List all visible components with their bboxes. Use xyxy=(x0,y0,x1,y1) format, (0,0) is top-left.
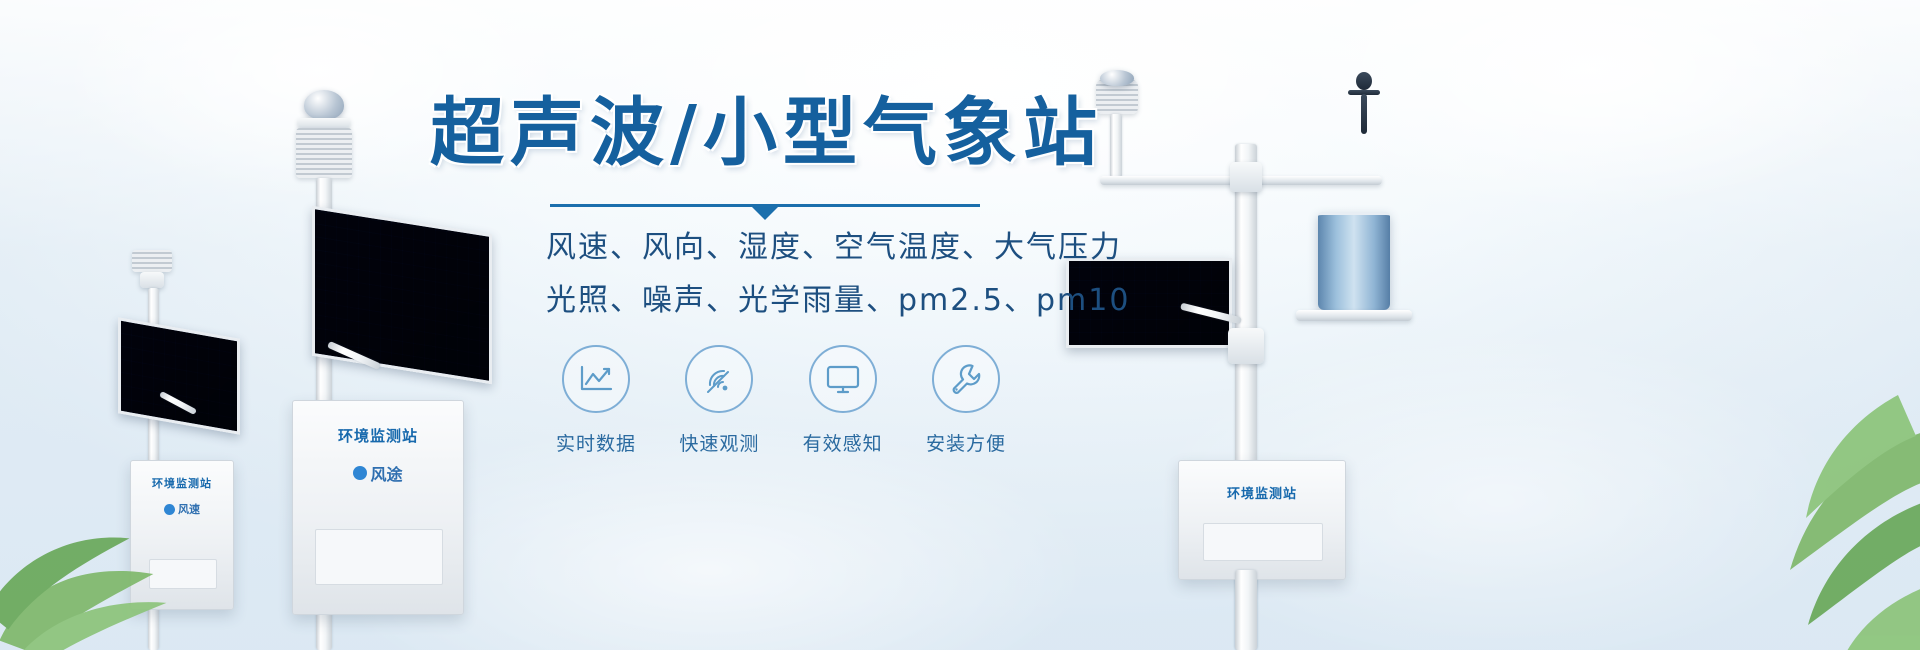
banner-content: 超声波/小型气象站 风速、风向、湿度、空气温度、大气压力 光照、噪声、光学雨量、… xyxy=(430,96,1130,323)
cabinet-label: 环境监测站 xyxy=(1179,483,1345,502)
feature-item-easy-installation[interactable]: 安装方便 xyxy=(916,345,1016,456)
radiation-shield-icon xyxy=(296,128,352,178)
cabinet-label: 环境监测站 xyxy=(293,425,463,446)
sensor-head xyxy=(140,272,164,288)
signal-radar-icon xyxy=(685,345,753,413)
sensor-cap xyxy=(298,118,350,128)
feature-label: 有效感知 xyxy=(793,429,893,456)
monitoring-cabinet: 环境监测站 风速 xyxy=(130,460,234,610)
cabinet-vent xyxy=(1203,523,1323,561)
radiation-shield-icon xyxy=(132,250,172,272)
divider xyxy=(550,204,980,207)
rain-gauge-icon xyxy=(1318,212,1390,310)
mast-collar xyxy=(1228,328,1264,364)
feature-item-realtime-data[interactable]: 实时数据 xyxy=(546,345,646,456)
monitor-icon xyxy=(809,345,877,413)
feature-label: 快速观测 xyxy=(669,429,769,456)
mast-collar xyxy=(1230,162,1262,192)
wrench-icon xyxy=(932,345,1000,413)
brand-dot-icon xyxy=(164,504,175,515)
solar-panel xyxy=(118,317,240,435)
monitoring-cabinet: 环境监测站 风途 xyxy=(292,400,464,615)
brand-text: 风速 xyxy=(178,501,200,517)
dome-cap-icon xyxy=(1100,70,1134,86)
mast-base xyxy=(1235,570,1257,650)
leaf-icon xyxy=(1630,370,1920,650)
page-title: 超声波/小型气象站 xyxy=(430,96,1130,170)
feature-label: 安装方便 xyxy=(916,429,1016,456)
feature-item-effective-sensing[interactable]: 有效感知 xyxy=(793,345,893,456)
weather-station-left: 环境监测站 风速 xyxy=(110,250,290,650)
wind-vane-icon xyxy=(1356,72,1372,90)
brand-dot-icon xyxy=(353,466,367,480)
wind-vane-post xyxy=(1361,94,1367,134)
dome-sensor-icon xyxy=(304,90,344,120)
feature-item-fast-observation[interactable]: 快速观测 xyxy=(669,345,769,456)
subtitle-line-2: 光照、噪声、光学雨量、pm2.5、pm10 xyxy=(546,278,1130,323)
feature-label: 实时数据 xyxy=(546,429,646,456)
monitoring-cabinet: 环境监测站 xyxy=(1178,460,1346,580)
feature-list: 实时数据 快速观测 有效感知 xyxy=(546,345,1016,456)
product-banner: 环境监测站 风速 环境监测站 风途 xyxy=(0,0,1920,650)
cabinet-vent xyxy=(149,559,217,589)
brand-text: 风途 xyxy=(370,461,402,485)
line-chart-icon xyxy=(562,345,630,413)
cabinet-brand: 风途 xyxy=(293,461,463,485)
cabinet-brand: 风速 xyxy=(131,501,233,517)
cabinet-label: 环境监测站 xyxy=(131,475,233,491)
cabinet-vent xyxy=(315,529,443,585)
gauge-shelf xyxy=(1296,310,1412,321)
subtitle-line-1: 风速、风向、湿度、空气温度、大气压力 xyxy=(546,225,1130,270)
